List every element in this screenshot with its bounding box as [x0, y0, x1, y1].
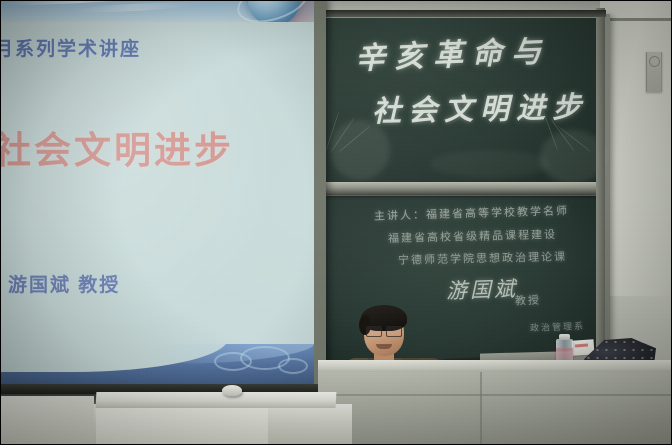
chalk-smudge — [430, 150, 550, 178]
chalk-tray — [322, 182, 602, 195]
footer-bubble-decor — [278, 358, 308, 374]
projection-screen-frame: 活动月系列学术讲座 与社会文明进步 讲：游国斌 教授 — [0, 0, 326, 394]
computer-mouse — [222, 385, 242, 396]
chalkboard-signature-title: 教授 — [515, 292, 542, 309]
chalkboard-headline-line1: 辛亥革命与 — [354, 26, 551, 77]
bottle-cap — [559, 334, 570, 340]
lectern-top-surface — [96, 392, 337, 408]
slide-header-band — [0, 0, 314, 22]
wall-bracket-icon — [646, 52, 662, 92]
counter-front-panel — [318, 372, 672, 445]
chalkboard-top-edge — [318, 10, 606, 17]
lectern-lower-box — [96, 404, 268, 445]
eyeglasses-icon — [366, 326, 402, 335]
slide-subtitle: 活动月系列学术讲座 — [0, 34, 141, 61]
slide-speaker-line: 讲：游国斌 教授 — [0, 270, 120, 297]
ceiling-trim-line — [600, 18, 672, 21]
chalkboard-right-edge — [596, 8, 605, 368]
counter-seam — [480, 372, 482, 445]
lectern-left-panel — [0, 396, 94, 445]
slide-footer-band — [0, 344, 314, 384]
right-wall — [600, 0, 672, 300]
speaker-mouth — [376, 344, 392, 349]
slide-main-title: 与社会文明进步 — [0, 120, 234, 174]
footer-bubble-decor — [214, 352, 252, 371]
lecture-hall-photo: 辛亥革命与 社会文明进步 主讲人：福建省高等学校教学名师 福建省高校省级精品课程… — [0, 0, 672, 445]
chalkboard-headline-line2: 社会文明进步 — [372, 84, 589, 131]
band-streak-decor — [74, 1, 194, 14]
projection-screen-surface: 活动月系列学术讲座 与社会文明进步 讲：游国斌 教授 — [0, 0, 314, 384]
chalkboard-department-note: 政治管理系 — [530, 319, 585, 334]
